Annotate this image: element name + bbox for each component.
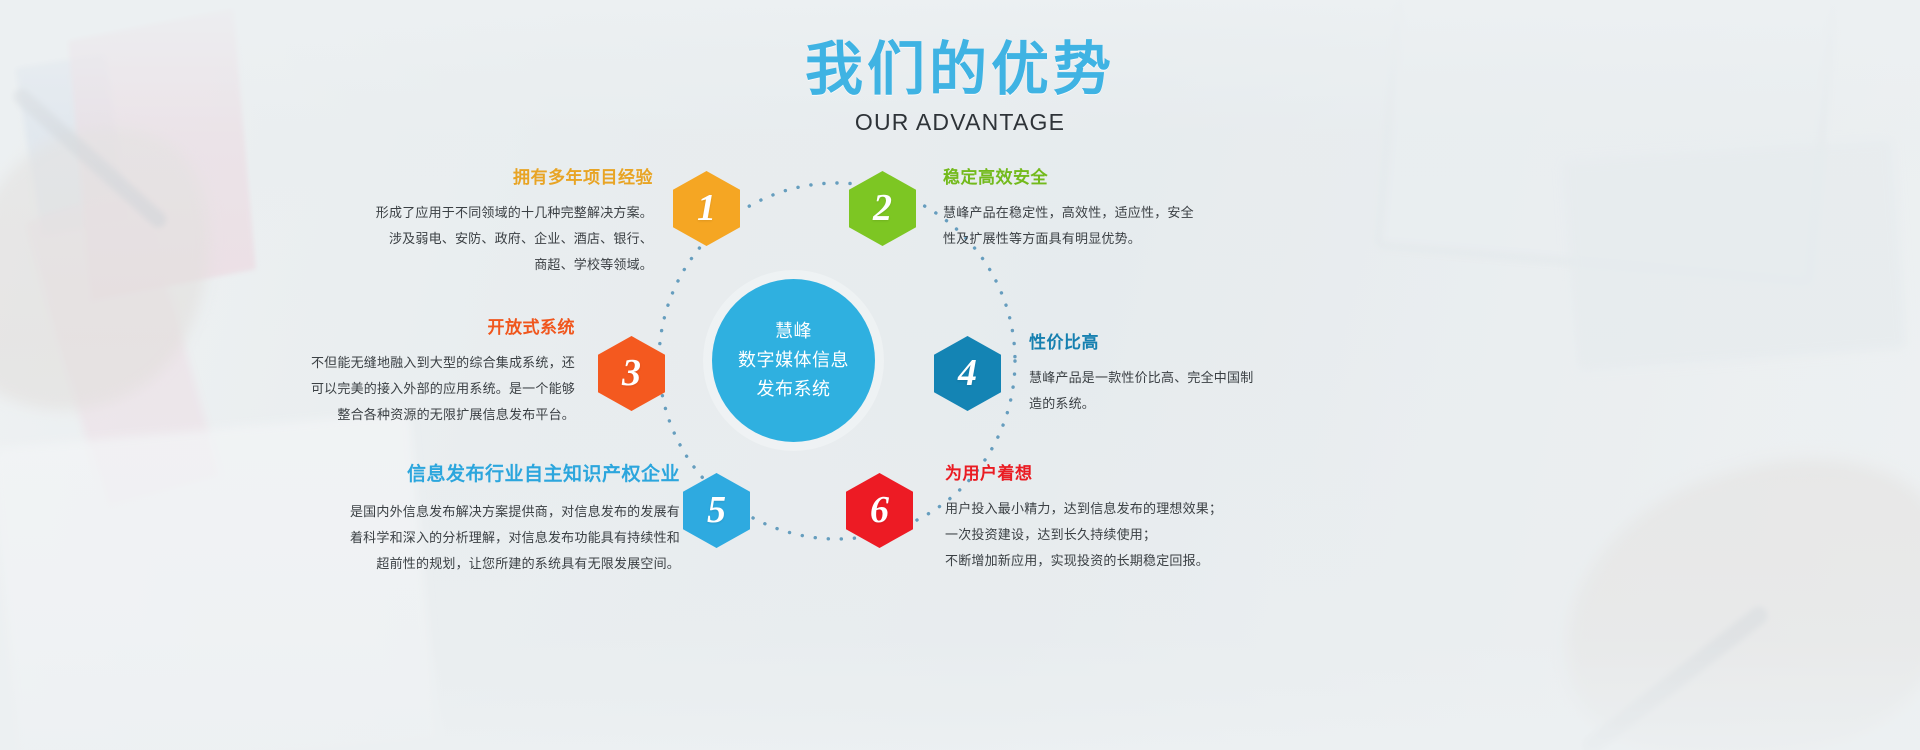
hex-badge-3[interactable]: 3 xyxy=(598,336,665,411)
advantage-item-4-line-2: 造的系统。 xyxy=(1029,391,1349,417)
hex-badge-6[interactable]: 6 xyxy=(846,473,913,548)
advantage-item-3-line-3: 整合各种资源的无限扩展信息发布平台。 xyxy=(235,402,575,428)
advantage-item-5-line-1: 是国内外信息发布解决方案提供商，对信息发布的发展有 xyxy=(295,499,680,525)
advantage-item-5: 信息发布行业自主知识产权企业 是国内外信息发布解决方案提供商，对信息发布的发展有… xyxy=(295,463,680,577)
advantage-item-4-line-1: 慧峰产品是一款性价比高、完全中国制 xyxy=(1029,365,1349,391)
hex-badge-2-number: 2 xyxy=(873,189,892,227)
hex-badge-2[interactable]: 2 xyxy=(849,171,916,246)
advantage-banner: 我们的优势 OUR ADVANTAGE 慧峰 数字媒体信息 发布系统 1 2 3… xyxy=(0,0,1920,750)
advantage-item-1-title: 拥有多年项目经验 xyxy=(318,167,653,189)
page-title: 我们的优势 xyxy=(0,38,1920,103)
advantage-item-1-line-1: 形成了应用于不同领域的十几种完整解决方案。 xyxy=(318,200,653,226)
center-line-1: 慧峰 xyxy=(775,317,812,346)
advantage-item-5-line-3: 超前性的规划，让您所建的系统具有无限发展空间。 xyxy=(295,551,680,577)
center-circle: 慧峰 数字媒体信息 发布系统 xyxy=(712,279,875,442)
advantage-item-1: 拥有多年项目经验 形成了应用于不同领域的十几种完整解决方案。 涉及弱电、安防、政… xyxy=(318,167,653,278)
advantage-item-4-title: 性价比高 xyxy=(1029,332,1349,354)
advantage-item-3-line-2: 可以完美的接入外部的应用系统。是一个能够 xyxy=(235,376,575,402)
hex-badge-5-number: 5 xyxy=(707,491,726,529)
hex-badge-4[interactable]: 4 xyxy=(934,336,1001,411)
advantage-item-6: 为用户着想 用户投入最小精力，达到信息发布的理想效果； 一次投资建设，达到长久持… xyxy=(945,463,1305,574)
advantage-item-3: 开放式系统 不但能无缝地融入到大型的综合集成系统，还 可以完美的接入外部的应用系… xyxy=(235,317,575,428)
hex-badge-3-number: 3 xyxy=(622,354,641,392)
advantage-item-1-line-2: 涉及弱电、安防、政府、企业、酒店、银行、 xyxy=(318,226,653,252)
advantage-item-6-title: 为用户着想 xyxy=(945,463,1305,485)
hex-badge-6-number: 6 xyxy=(870,491,889,529)
advantage-item-6-line-3: 不断增加新应用，实现投资的长期稳定回报。 xyxy=(945,548,1305,574)
advantage-item-1-line-3: 商超、学校等领域。 xyxy=(318,252,653,278)
center-line-3: 发布系统 xyxy=(757,375,831,404)
hex-badge-4-number: 4 xyxy=(958,354,977,392)
hex-badge-1[interactable]: 1 xyxy=(673,171,740,246)
advantage-item-5-line-2: 着科学和深入的分析理解，对信息发布功能具有持续性和 xyxy=(295,525,680,551)
advantage-item-6-line-1: 用户投入最小精力，达到信息发布的理想效果； xyxy=(945,496,1305,522)
advantage-item-2-title: 稳定高效安全 xyxy=(943,167,1283,189)
advantage-item-2: 稳定高效安全 慧峰产品在稳定性，高效性，适应性，安全 性及扩展性等方面具有明显优… xyxy=(943,167,1283,252)
advantage-item-6-line-2: 一次投资建设，达到长久持续使用； xyxy=(945,522,1305,548)
advantage-item-4: 性价比高 慧峰产品是一款性价比高、完全中国制 造的系统。 xyxy=(1029,332,1349,417)
advantage-item-3-line-1: 不但能无缝地融入到大型的综合集成系统，还 xyxy=(235,350,575,376)
center-line-2: 数字媒体信息 xyxy=(738,346,849,375)
banner-header: 我们的优势 OUR ADVANTAGE xyxy=(0,38,1920,136)
advantage-item-2-line-2: 性及扩展性等方面具有明显优势。 xyxy=(943,226,1283,252)
advantage-item-3-title: 开放式系统 xyxy=(235,317,575,339)
page-subtitle: OUR ADVANTAGE xyxy=(0,109,1920,136)
hex-badge-1-number: 1 xyxy=(697,189,716,227)
advantage-item-5-title: 信息发布行业自主知识产权企业 xyxy=(295,463,680,488)
hex-badge-5[interactable]: 5 xyxy=(683,473,750,548)
banner-content: 我们的优势 OUR ADVANTAGE 慧峰 数字媒体信息 发布系统 1 2 3… xyxy=(0,0,1920,750)
advantage-item-2-line-1: 慧峰产品在稳定性，高效性，适应性，安全 xyxy=(943,200,1283,226)
